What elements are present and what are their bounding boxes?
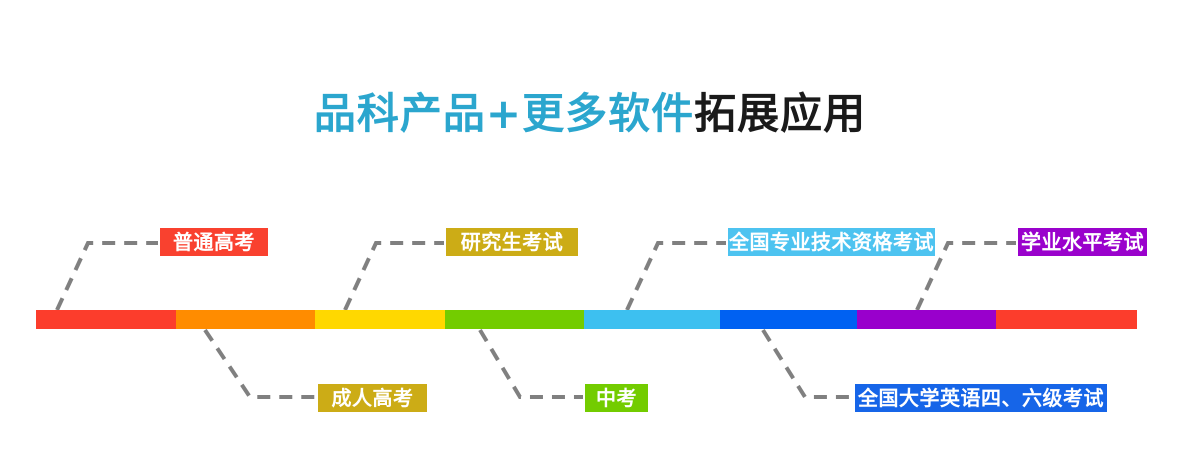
segment-blue bbox=[720, 310, 857, 329]
segment-red-end bbox=[996, 310, 1137, 329]
segment-green bbox=[445, 310, 584, 329]
label-xueye-shuiping-kaoshi[interactable]: 学业水平考试 bbox=[1018, 228, 1147, 256]
label-yanjiusheng-kaoshi[interactable]: 研究生考试 bbox=[446, 228, 578, 256]
page-title-accent: 品科产品+更多软件 bbox=[314, 89, 694, 138]
label-chengren-gaokao[interactable]: 成人高考 bbox=[318, 384, 427, 412]
connector-zhuanye-jishu bbox=[627, 243, 726, 310]
segment-cyan bbox=[584, 310, 720, 329]
label-quanguo-zhuanye-jishu-zige-kaoshi[interactable]: 全国专业技术资格考试 bbox=[728, 228, 935, 256]
label-quanguo-daxue-yingyu-siliuji-kaoshi[interactable]: 全国大学英语四、六级考试 bbox=[855, 384, 1107, 412]
rainbow-spectrum-bar bbox=[36, 310, 1137, 329]
page-title: 品科产品+更多软件拓展应用 bbox=[0, 88, 1180, 140]
connectors-bottom-group bbox=[205, 330, 853, 397]
connector-putong-gaokao bbox=[57, 243, 158, 310]
connector-daxue-yingyu bbox=[763, 330, 853, 397]
label-zhongkao[interactable]: 中考 bbox=[585, 384, 648, 412]
infographic-root: 品科产品+更多软件拓展应用 普通高考研究生考试全国专业技术资格考试学业水平考试成… bbox=[0, 0, 1180, 464]
segment-purple bbox=[857, 310, 996, 329]
page-title-plain: 拓展应用 bbox=[694, 89, 866, 138]
segment-red bbox=[36, 310, 176, 329]
segment-orange bbox=[176, 310, 315, 329]
connector-yanjiusheng-kaoshi bbox=[345, 243, 444, 310]
connector-zhongkao bbox=[480, 330, 583, 397]
label-putong-gaokao[interactable]: 普通高考 bbox=[160, 228, 268, 256]
segment-yellow bbox=[315, 310, 445, 329]
connector-chengren-gaokao bbox=[205, 330, 316, 397]
